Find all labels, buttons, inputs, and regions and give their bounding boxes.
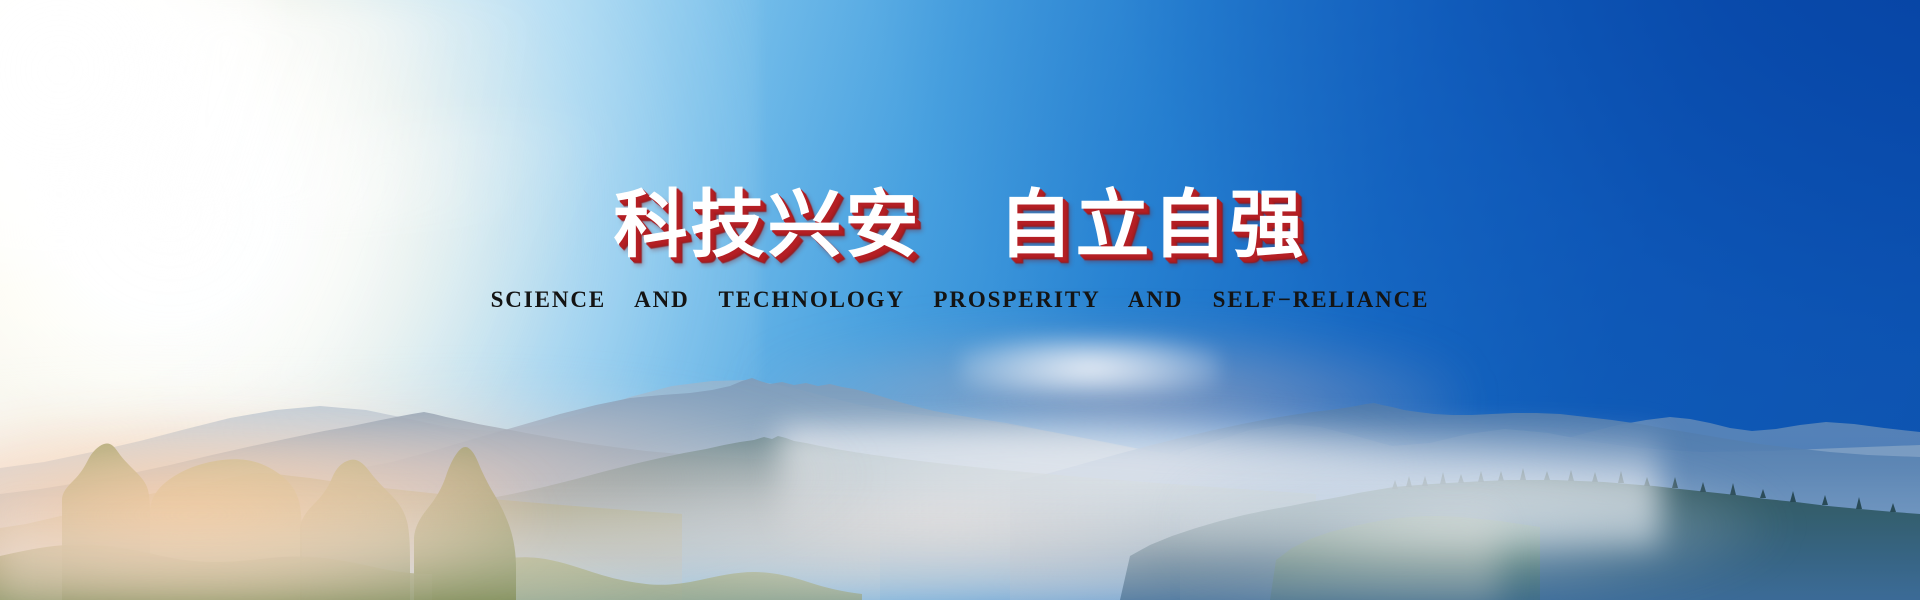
banner-text-block: 科技兴安 自立自强 SCIENCE AND TECHNOLOGY PROSPER… xyxy=(0,188,1920,311)
site-banner: 科技兴安 自立自强 SCIENCE AND TECHNOLOGY PROSPER… xyxy=(0,0,1920,600)
banner-headline: 科技兴安 自立自强 xyxy=(0,188,1920,262)
banner-subline: SCIENCE AND TECHNOLOGY PROSPERITY AND SE… xyxy=(0,288,1920,311)
